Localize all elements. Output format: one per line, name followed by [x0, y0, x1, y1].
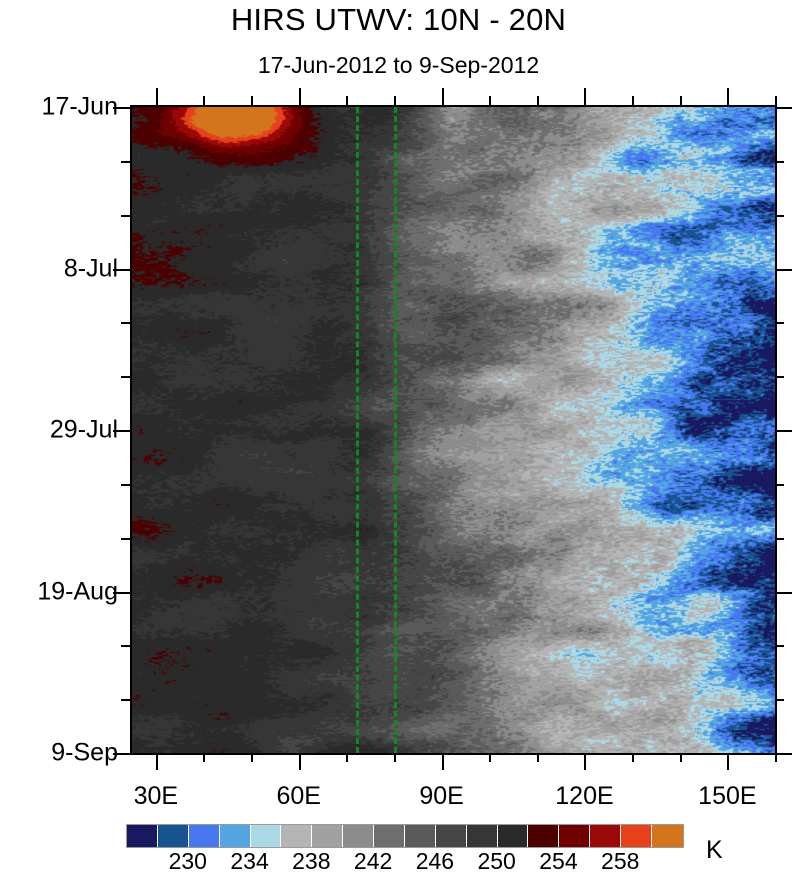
colorbar-swatch: [405, 825, 436, 847]
colorbar-swatch: [374, 825, 405, 847]
hovmoller-figure: HIRS UTWV: 10N - 20N 17-Jun-2012 to 9-Se…: [0, 0, 797, 869]
colorbar-tick-label: 242: [354, 848, 392, 875]
colorbar: [126, 824, 684, 848]
y-tick-right: [775, 592, 792, 594]
colorbar-swatch: [281, 825, 312, 847]
colorbar-swatch: [590, 825, 621, 847]
x-axis-label: 60E: [276, 782, 320, 811]
y-tick-right: [775, 107, 792, 109]
x-axis-label: 30E: [134, 782, 178, 811]
y-tick-left: [121, 376, 130, 378]
x-tick-top: [680, 96, 682, 105]
y-tick-left: [121, 322, 130, 324]
y-tick-left: [121, 699, 130, 701]
x-axis-label: 150E: [698, 782, 756, 811]
y-tick-right: [775, 322, 784, 324]
x-tick-bottom: [489, 753, 491, 762]
colorbar-swatch: [436, 825, 467, 847]
colorbar-swatch: [127, 825, 158, 847]
colorbar-swatch: [251, 825, 282, 847]
colorbar-swatch: [189, 825, 220, 847]
x-tick-bottom: [584, 753, 586, 770]
x-tick-bottom: [251, 753, 253, 762]
y-tick-right: [775, 269, 792, 271]
x-tick-bottom: [203, 753, 205, 762]
x-tick-bottom: [442, 753, 444, 770]
reference-line: [356, 107, 359, 753]
colorbar-tick-label: 246: [416, 848, 454, 875]
page-title: HIRS UTWV: 10N - 20N: [0, 2, 797, 38]
y-tick-right: [775, 430, 792, 432]
y-axis-label: 8-Jul: [64, 254, 118, 283]
x-tick-top: [346, 96, 348, 105]
x-tick-bottom: [727, 753, 729, 770]
x-tick-top: [632, 96, 634, 105]
colorbar-swatch: [498, 825, 529, 847]
y-tick-right: [775, 538, 784, 540]
y-axis-label: 29-Jul: [50, 416, 118, 445]
y-tick-right: [775, 484, 784, 486]
figure-subtitle: 17-Jun-2012 to 9-Sep-2012: [0, 52, 797, 79]
x-tick-top: [489, 96, 491, 105]
colorbar-tick-label: 254: [539, 848, 577, 875]
y-tick-left: [121, 215, 130, 217]
y-tick-right: [775, 376, 784, 378]
colorbar-swatch: [559, 825, 590, 847]
y-axis-label: 17-Jun: [42, 93, 118, 122]
colorbar-tick-label: 234: [230, 848, 268, 875]
y-tick-right: [775, 645, 784, 647]
colorbar-swatch: [467, 825, 498, 847]
x-tick-top: [251, 96, 253, 105]
x-tick-top: [727, 88, 729, 105]
x-tick-top: [299, 88, 301, 105]
x-tick-top: [442, 88, 444, 105]
colorbar-swatch: [220, 825, 251, 847]
x-tick-bottom: [156, 753, 158, 770]
reference-line: [394, 107, 397, 753]
colorbar-swatch: [621, 825, 652, 847]
colorbar-tick-label: 250: [477, 848, 515, 875]
y-tick-right: [775, 699, 784, 701]
hovmoller-field: [132, 107, 775, 753]
y-tick-right: [775, 753, 792, 755]
colorbar-tick-label: 258: [601, 848, 639, 875]
x-tick-bottom: [394, 753, 396, 762]
colorbar-tick-labels: 230234238242246250254258: [0, 848, 797, 878]
plot-area: [130, 105, 777, 755]
colorbar-tick-label: 238: [292, 848, 330, 875]
y-axis-label: 9-Sep: [51, 739, 118, 768]
x-tick-top: [203, 96, 205, 105]
colorbar-swatch: [343, 825, 374, 847]
y-tick-left: [121, 161, 130, 163]
x-tick-bottom: [346, 753, 348, 762]
x-tick-bottom: [680, 753, 682, 762]
x-tick-top: [156, 88, 158, 105]
colorbar-swatch: [312, 825, 343, 847]
y-axis-labels: 17-Jun8-Jul29-Jul19-Aug9-Sep: [0, 0, 118, 869]
y-tick-left: [121, 645, 130, 647]
x-tick-bottom: [299, 753, 301, 770]
y-tick-right: [775, 215, 784, 217]
colorbar-tick-label: 230: [169, 848, 207, 875]
colorbar-swatch: [528, 825, 559, 847]
colorbar-unit-label: K: [706, 836, 723, 865]
x-axis-label: 120E: [555, 782, 613, 811]
x-tick-top: [537, 96, 539, 105]
x-tick-top: [775, 96, 777, 105]
x-tick-bottom: [632, 753, 634, 762]
x-axis-label: 90E: [419, 782, 463, 811]
colorbar-swatch: [158, 825, 189, 847]
x-tick-bottom: [537, 753, 539, 762]
y-axis-label: 19-Aug: [37, 577, 118, 606]
x-tick-top: [394, 96, 396, 105]
y-tick-left: [121, 484, 130, 486]
x-tick-top: [584, 88, 586, 105]
y-tick-left: [121, 538, 130, 540]
colorbar-swatch: [652, 825, 683, 847]
y-tick-right: [775, 161, 784, 163]
